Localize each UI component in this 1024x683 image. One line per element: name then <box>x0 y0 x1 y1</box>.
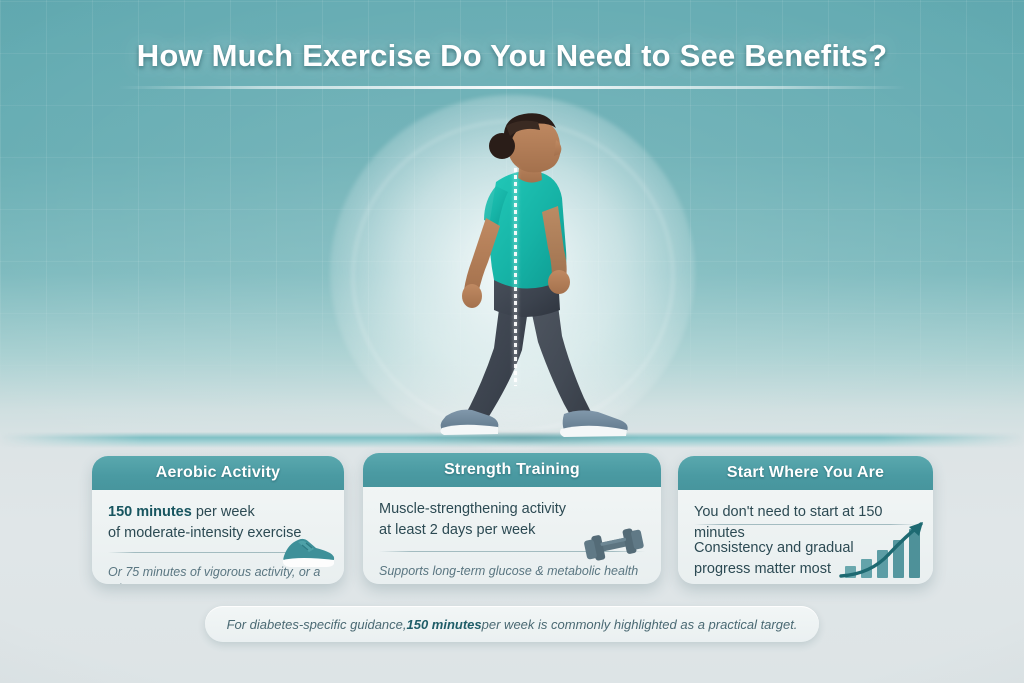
growth-chart-icon <box>831 516 931 582</box>
card-strength-title: Strength Training <box>363 453 661 487</box>
banner-suffix: per week is commonly highlighted as a pr… <box>482 617 798 632</box>
card-start-second-line1: Consistency and gradual <box>694 540 854 556</box>
card-aerobic-main-rest: per week <box>192 504 255 520</box>
posture-alignment-dotted-line <box>514 168 517 386</box>
banner-highlight: 150 minutes <box>407 617 482 632</box>
card-start-where-you-are[interactable]: Start Where You Are You don't need to st… <box>678 456 933 584</box>
card-start-second-line2: progress matter most <box>694 561 831 577</box>
page-title: How Much Exercise Do You Need to See Ben… <box>0 38 1024 74</box>
card-aerobic-title: Aerobic Activity <box>92 456 344 490</box>
card-aerobic-body: 150 minutes per week of moderate-intensi… <box>92 490 344 584</box>
title-underline-rule <box>118 86 906 89</box>
card-aerobic-main-line2: of moderate-intensity exercise <box>108 525 301 541</box>
card-aerobic-bold-value: 150 minutes <box>108 504 192 520</box>
running-shoe-icon <box>278 526 338 570</box>
infographic-canvas: How Much Exercise Do You Need to See Ben… <box>0 0 1024 683</box>
card-start-body: You don't need to start at 150 minutes C… <box>678 490 933 584</box>
dumbbell-icon <box>575 521 653 569</box>
bottom-note-banner: For diabetes-specific guidance, 150 minu… <box>205 606 819 642</box>
banner-prefix: For diabetes-specific guidance, <box>227 617 407 632</box>
walking-woman-figure <box>398 110 643 440</box>
card-strength-body: Muscle-strengthening activity at least 2… <box>363 487 661 584</box>
card-strength-main-line1: Muscle-strengthening activity <box>379 501 566 517</box>
card-start-title: Start Where You Are <box>678 456 933 490</box>
card-aerobic-activity[interactable]: Aerobic Activity 150 minutes per week of… <box>92 456 344 584</box>
card-strength-main-line2: at least 2 days per week <box>379 522 535 538</box>
card-strength-training[interactable]: Strength Training Muscle-strengthening a… <box>363 453 661 584</box>
